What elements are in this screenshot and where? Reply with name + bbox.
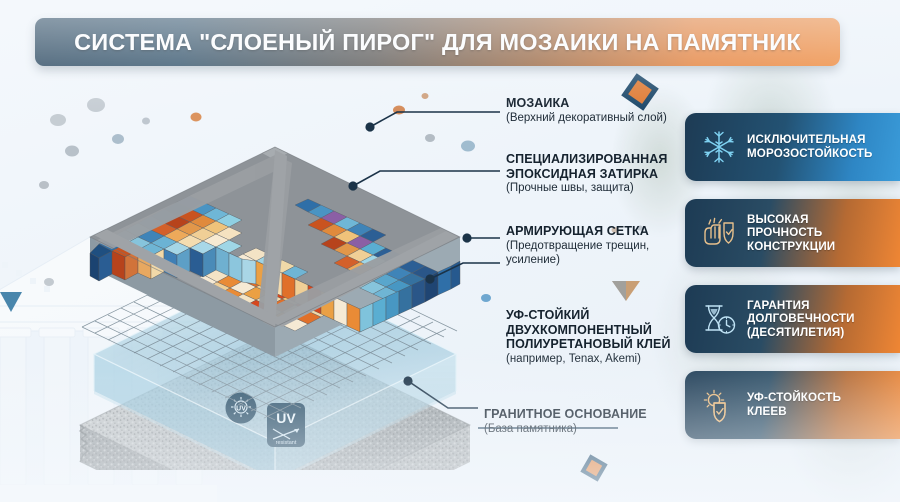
uv-resistant-badge: UV resistant <box>267 403 305 447</box>
benefit-card-strength[interactable]: ВЫСОКАЯ ПРОЧНОСТЬ КОНСТРУКЦИИ <box>685 199 900 267</box>
callout-adhesive-title-line2: ДВУХКОМПОНЕНТНЫЙ <box>506 323 671 338</box>
svg-text:resistant: resistant <box>276 440 297 446</box>
page-title-bar: СИСТЕМА "СЛОЕНЫЙ ПИРОГ" ДЛЯ МОЗАИКИ НА П… <box>35 18 840 66</box>
benefit-card-strength-text: ВЫСОКАЯ ПРОЧНОСТЬ КОНСТРУКЦИИ <box>741 213 835 254</box>
callout-granite-title: ГРАНИТНОЕ ОСНОВАНИЕ <box>484 407 647 422</box>
callout-grout-title-line2: ЭПОКСИДНАЯ ЗАТИРКА <box>506 167 667 182</box>
callout-adhesive-subtitle: (например, Tenax, Akemi) <box>506 352 671 366</box>
callout-granite: ГРАНИТНОЕ ОСНОВАНИЕ (База памятника) <box>484 407 647 436</box>
fist-shield-icon <box>697 211 741 255</box>
snowflake-icon <box>697 125 741 169</box>
callout-mesh-subtitle-line1: (Предотвращение трещин, <box>506 239 649 253</box>
layered-stack-illustration: UV UV resistant <box>60 95 490 470</box>
benefit-durability-line2: ДОЛГОВЕЧНОСТИ <box>747 312 855 326</box>
benefit-card-uv-resistance[interactable]: УФ-СТОЙКОСТЬ КЛЕЕВ <box>685 371 900 439</box>
callout-mosaic: МОЗАИКА (Верхний декоративный слой) <box>506 96 667 125</box>
benefit-strength-line3: КОНСТРУКЦИИ <box>747 240 835 254</box>
benefit-cards-list: ИСКЛЮЧИТЕЛЬНАЯ МОРОЗОСТОЙКОСТЬ ВЫСОКАЯ П… <box>685 113 900 457</box>
sun-shield-icon <box>697 383 741 427</box>
benefit-frost-line1: ИСКЛЮЧИТЕЛЬНАЯ <box>747 133 872 147</box>
callout-grout: СПЕЦИАЛИЗИРОВАННАЯ ЭПОКСИДНАЯ ЗАТИРКА (П… <box>506 152 667 195</box>
mosaic-top-layer <box>90 147 460 357</box>
benefit-durability-line1: ГАРАНТИЯ <box>747 299 855 313</box>
callout-mesh-subtitle-line2: усиление) <box>506 253 649 267</box>
callout-mosaic-subtitle: (Верхний декоративный слой) <box>506 111 667 125</box>
svg-text:UV: UV <box>276 410 296 426</box>
benefit-uv-line2: КЛЕЕВ <box>747 405 841 419</box>
uv-circle-badge: UV <box>226 393 257 424</box>
callout-grout-subtitle: (Прочные швы, защита) <box>506 181 667 195</box>
callout-adhesive: УФ-СТОЙКИЙ ДВУХКОМПОНЕНТНЫЙ ПОЛИУРЕТАНОВ… <box>506 308 671 366</box>
benefit-card-uv-text: УФ-СТОЙКОСТЬ КЛЕЕВ <box>741 391 841 418</box>
callout-grout-title-line1: СПЕЦИАЛИЗИРОВАННАЯ <box>506 152 667 167</box>
callout-adhesive-title-line1: УФ-СТОЙКИЙ <box>506 308 671 323</box>
callout-granite-subtitle: (База памятника) <box>484 422 647 436</box>
page-title: СИСТЕМА "СЛОЕНЫЙ ПИРОГ" ДЛЯ МОЗАИКИ НА П… <box>74 29 801 56</box>
callout-mosaic-title: МОЗАИКА <box>506 96 667 111</box>
callout-mesh: АРМИРУЮЩАЯ СЕТКА (Предотвращение трещин,… <box>506 224 649 267</box>
benefit-strength-line1: ВЫСОКАЯ <box>747 213 835 227</box>
benefit-durability-line3: (ДЕСЯТИЛЕТИЯ) <box>747 326 855 340</box>
hourglass-clock-icon <box>697 297 741 341</box>
callout-adhesive-title-line3: ПОЛИУРЕТАНОВЫЙ КЛЕЙ <box>506 337 671 352</box>
svg-text:UV: UV <box>236 406 246 413</box>
callout-mesh-title: АРМИРУЮЩАЯ СЕТКА <box>506 224 649 239</box>
benefit-strength-line2: ПРОЧНОСТЬ <box>747 226 835 240</box>
benefit-uv-line1: УФ-СТОЙКОСТЬ <box>747 391 841 405</box>
benefit-frost-line2: МОРОЗОСТОЙКОСТЬ <box>747 147 872 161</box>
benefit-card-durability[interactable]: ГАРАНТИЯ ДОЛГОВЕЧНОСТИ (ДЕСЯТИЛЕТИЯ) <box>685 285 900 353</box>
benefit-card-durability-text: ГАРАНТИЯ ДОЛГОВЕЧНОСТИ (ДЕСЯТИЛЕТИЯ) <box>741 299 855 340</box>
benefit-card-frost-resistance[interactable]: ИСКЛЮЧИТЕЛЬНАЯ МОРОЗОСТОЙКОСТЬ <box>685 113 900 181</box>
benefit-card-frost-text: ИСКЛЮЧИТЕЛЬНАЯ МОРОЗОСТОЙКОСТЬ <box>741 133 872 160</box>
